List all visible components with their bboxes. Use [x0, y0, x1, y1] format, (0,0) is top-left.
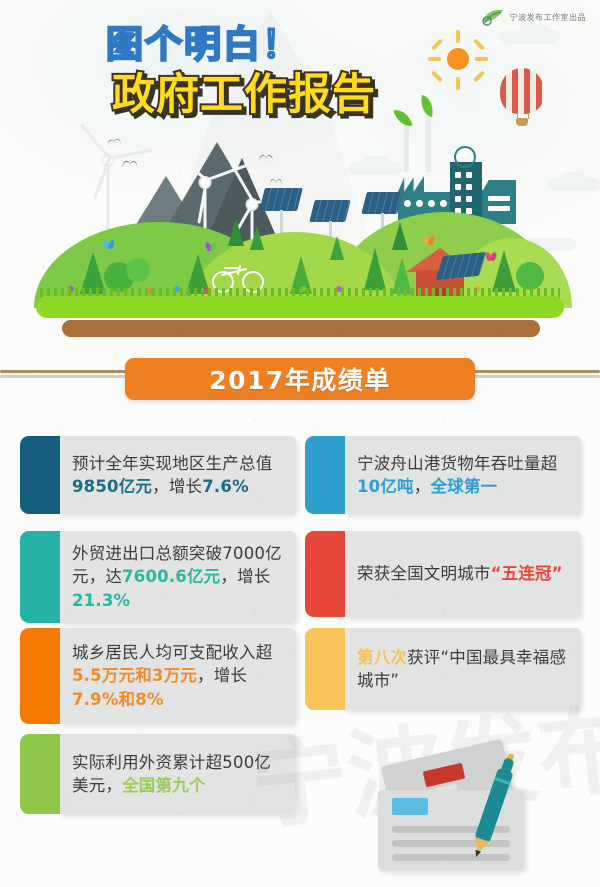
pine-tree-icon	[392, 222, 408, 250]
butterfly-icon	[104, 240, 115, 249]
section-banner-label: 2017年成绩单	[209, 361, 391, 397]
stat-text: 外贸进出口总额突破7000	[72, 544, 265, 563]
cloud-icon	[518, 24, 548, 38]
document-blue-header	[392, 798, 428, 815]
bicycle-icon	[212, 263, 264, 289]
stat-text: 量超	[524, 454, 557, 473]
stat-highlight: 5.5万元和3万元	[72, 666, 197, 685]
stat-text: 城乡居民人均可支配收入	[72, 643, 256, 662]
stat-highlight: “五连冠”	[491, 564, 563, 583]
stat-card-gdp: 预计全年实现地区生产总值9850亿元，增长7.6%	[20, 436, 296, 514]
stat-text: 长	[254, 567, 271, 586]
stat-text: 荣获全国文明城市	[357, 564, 491, 583]
section-banner: 2017年成绩单	[125, 358, 475, 400]
leaf-scroll-logo-icon	[481, 8, 505, 26]
butterfly-icon	[424, 236, 435, 245]
stat-card-text: 外贸进出口总额突破7000亿元，达7600.6亿元，增长21.3%	[72, 542, 286, 612]
stat-card-text: 城乡居民人均可支配收入超5.5万元和3万元，增长7.9%和8%	[72, 641, 286, 711]
grass-strip	[36, 296, 564, 318]
cloud-icon	[560, 172, 586, 185]
butterfly-icon	[206, 242, 217, 251]
pine-tree-icon	[228, 218, 244, 246]
stat-text: 实际利用外资累计超500	[72, 753, 254, 772]
stat-text: 超	[256, 643, 273, 662]
stat-card-accent-bar	[305, 436, 345, 514]
stat-card-accent-bar	[20, 436, 60, 514]
stat-card-body: 荣获全国文明城市“五连冠”	[345, 531, 581, 617]
stat-card-body: 外贸进出口总额突破7000亿元，达7600.6亿元，增长21.3%	[60, 531, 296, 623]
page-title: 政府工作报告	[112, 74, 376, 117]
stat-highlight: 全国第九个	[122, 776, 206, 795]
stat-card-port: 宁波舟山港货物年吞吐量超10亿吨，全球第一	[305, 436, 581, 514]
bird-icon	[270, 177, 283, 183]
stat-text: ，	[414, 477, 431, 496]
stat-highlight: 7.9%和8%	[72, 690, 164, 709]
infographic-page: 图个明白！ 政府工作报告 宁波发布工作室出品 2017年成绩单 宁波发布 预计全…	[0, 0, 600, 887]
stat-card-text: 宁波舟山港货物年吞吐量超10亿吨，全球第一	[357, 452, 571, 499]
stat-card-trade: 外贸进出口总额突破7000亿元，达7600.6亿元，增长21.3%	[20, 531, 296, 623]
stat-card-accent-bar	[20, 628, 60, 724]
stat-text: 值	[256, 454, 273, 473]
hot-air-balloon-icon	[500, 68, 544, 126]
stat-highlight: 第八次	[357, 648, 407, 667]
stat-highlight: 全球第一	[430, 477, 497, 496]
stat-text: 预计全年实现地区生产总	[72, 454, 256, 473]
stat-card-accent-bar	[20, 531, 60, 623]
bird-icon	[259, 152, 273, 159]
stat-card-text: 预计全年实现地区生产总值9850亿元，增长7.6%	[72, 452, 286, 499]
documents-and-pen-illustration	[378, 752, 590, 877]
stat-highlight: 7.6%	[202, 477, 249, 496]
stat-card-text: 实际利用外资累计超500亿美元，全国第九个	[72, 751, 286, 798]
hero-illustration: 图个明白！ 政府工作报告 宁波发布工作室出品	[0, 0, 600, 345]
stat-highlight: 21.3%	[72, 591, 130, 610]
stat-card-text: 荣获全国文明城市“五连冠”	[357, 562, 563, 585]
stat-text: ，增长	[197, 666, 247, 685]
stat-text: 宁波舟山港货物年吞吐	[357, 454, 524, 473]
stat-card-body: 实际利用外资累计超500亿美元，全国第九个	[60, 734, 296, 814]
stat-card-happiness-city: 第八次获评“中国最具幸福感城市”	[305, 628, 581, 710]
stat-card-body: 城乡居民人均可支配收入超5.5万元和3万元，增长7.9%和8%	[60, 628, 296, 724]
pine-tree-icon	[364, 248, 386, 290]
stat-card-body: 第八次获评“中国最具幸福感城市”	[345, 628, 581, 710]
studio-logo: 宁波发布工作室出品	[481, 8, 587, 26]
stat-card-civilized-city: 荣获全国文明城市“五连冠”	[305, 531, 581, 617]
page-title-subtitle: 图个明白！	[106, 26, 301, 63]
butterfly-icon	[486, 252, 497, 261]
studio-logo-label: 宁波发布工作室出品	[510, 12, 587, 23]
stat-card-text: 第八次获评“中国最具幸福感城市”	[357, 646, 571, 693]
stat-card-body: 预计全年实现地区生产总值9850亿元，增长7.6%	[60, 436, 296, 514]
cloud-icon	[362, 156, 390, 169]
tree-icon	[516, 262, 544, 290]
pine-tree-icon	[330, 236, 344, 260]
stat-highlight: 7600.6亿元	[122, 567, 220, 586]
solar-panel-icon	[262, 188, 302, 236]
stat-card-income: 城乡居民人均可支配收入超5.5万元和3万元，增长7.9%和8%	[20, 628, 296, 724]
stat-card-accent-bar	[20, 734, 60, 814]
stat-text: 获评“中国最具幸	[407, 648, 533, 667]
stat-highlight: 9850亿元	[72, 477, 152, 496]
pine-tree-icon	[250, 226, 264, 250]
tree-icon	[126, 258, 150, 282]
bird-icon	[107, 136, 121, 145]
stat-text: ，增长	[152, 477, 202, 496]
stat-card-accent-bar	[305, 531, 345, 617]
stat-card-body: 宁波舟山港货物年吞吐量超10亿吨，全球第一	[345, 436, 581, 514]
stat-card-foreign-investment: 实际利用外资累计超500亿美元，全国第九个	[20, 734, 296, 814]
soil-strip	[62, 320, 540, 337]
stat-highlight: 10亿吨	[357, 477, 414, 496]
stat-text: ，增	[220, 567, 253, 586]
stat-card-accent-bar	[305, 628, 345, 710]
